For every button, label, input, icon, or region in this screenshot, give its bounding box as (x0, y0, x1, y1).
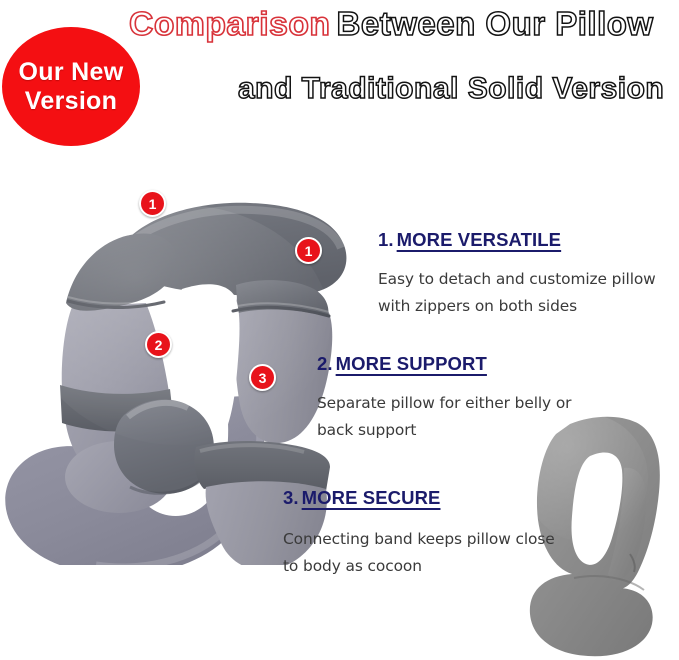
feature-3-heading: 3.MORE SECURE (283, 487, 555, 509)
feature-3-title: MORE SECURE (302, 487, 441, 508)
feature-3-number: 3. (283, 487, 299, 508)
feature-2-body: Separate pillow for either belly or back… (317, 390, 571, 444)
callout-marker-3: 3 (249, 364, 276, 391)
callout-marker-1-right: 1 (295, 237, 322, 264)
header-line-1-rest: Between Our Pillow (337, 4, 654, 44)
feature-1-heading: 1.MORE VERSATILE (378, 229, 656, 251)
callout-marker-1-left: 1 (139, 190, 166, 217)
our-new-version-badge: Our New Version (2, 27, 140, 146)
feature-2-number: 2. (317, 353, 333, 374)
badge-line-1: Our New (19, 58, 124, 87)
feature-1-number: 1. (378, 229, 394, 250)
feature-1-title: MORE VERSATILE (397, 229, 562, 250)
feature-2-heading: 2.MORE SUPPORT (317, 353, 571, 375)
feature-1: 1.MORE VERSATILE Easy to detach and cust… (378, 229, 656, 320)
callout-marker-2: 2 (145, 331, 172, 358)
pillow-sheen (30, 205, 330, 445)
feature-1-body: Easy to detach and customize pillow with… (378, 266, 656, 320)
feature-2-title: MORE SUPPORT (336, 353, 487, 374)
feature-3-body: Connecting band keeps pillow close to bo… (283, 526, 555, 580)
header-line-1: ComparisonBetween Our Pillow (131, 4, 654, 44)
badge-line-2: Version (25, 87, 117, 116)
header-highlight-comparison: Comparison (129, 4, 330, 44)
feature-3: 3.MORE SECURE Connecting band keeps pill… (283, 487, 555, 580)
infographic-canvas: ComparisonBetween Our Pillow and Traditi… (0, 0, 679, 660)
feature-2: 2.MORE SUPPORT Separate pillow for eithe… (317, 353, 571, 444)
